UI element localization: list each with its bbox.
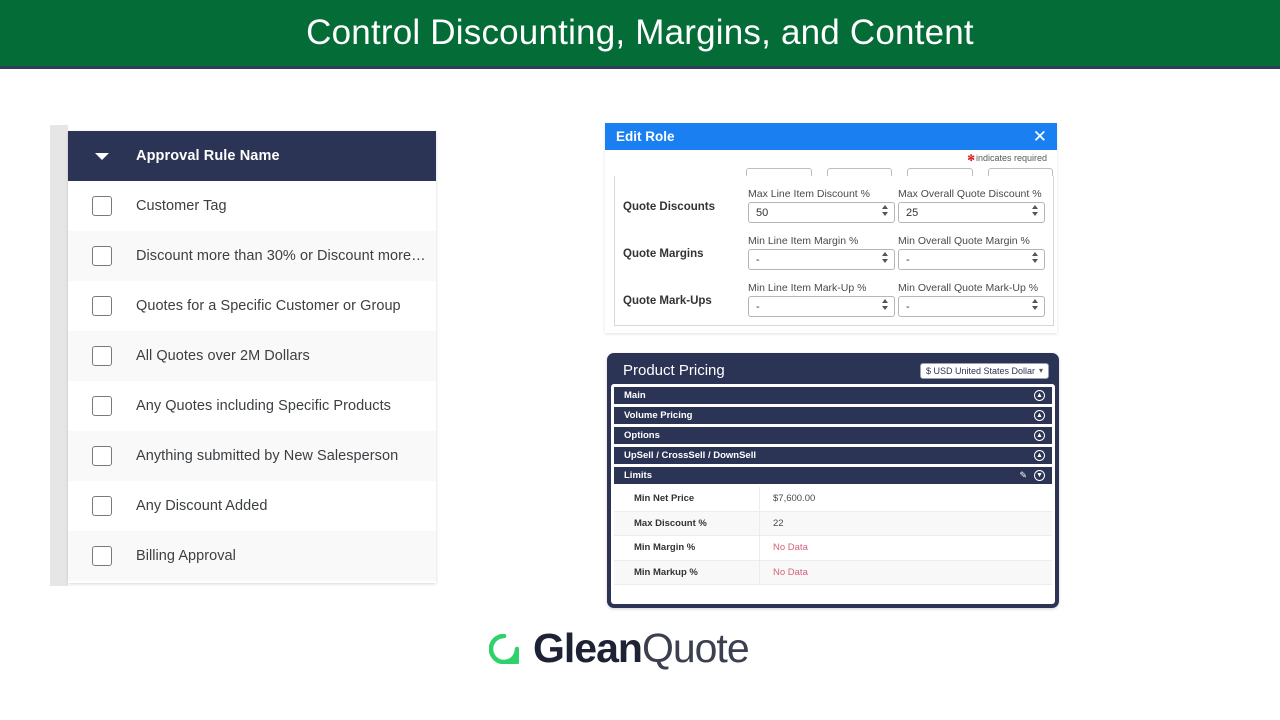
chevron-down-circle-icon[interactable]: ▼	[1034, 470, 1045, 481]
required-note-text: indicates required	[976, 153, 1047, 163]
table-row[interactable]: Billing Approval	[68, 531, 436, 581]
group-label: Quote Discounts	[623, 201, 748, 223]
chevron-up-circle-icon[interactable]: ▲	[1034, 410, 1045, 421]
page-title: Control Discounting, Margins, and Conten…	[306, 13, 974, 53]
chevron-up-circle-icon[interactable]: ▲	[1034, 390, 1045, 401]
limits-row-value: No Data	[760, 567, 808, 578]
table-row[interactable]: Customer Tag	[68, 181, 436, 231]
sort-caret-cell[interactable]	[68, 153, 136, 160]
min-overall-quote-margin-input[interactable]: -	[898, 249, 1045, 270]
chevron-up-circle-icon[interactable]: ▲	[1034, 450, 1045, 461]
column-header-approval-rule-name[interactable]: Approval Rule Name	[136, 148, 280, 164]
checkbox-icon[interactable]	[92, 396, 112, 416]
spinner-up-icon[interactable]	[882, 252, 888, 256]
section-limits[interactable]: Limits ✎ ▼	[614, 467, 1052, 484]
section-label: UpSell / CrossSell / DownSell	[624, 450, 756, 461]
edit-role-titlebar: Edit Role ✕	[605, 123, 1057, 150]
section-label: Limits	[624, 470, 652, 481]
field-value: -	[906, 301, 910, 313]
chevron-up-circle-icon[interactable]: ▲	[1034, 430, 1045, 441]
gleanquote-droplet-icon	[489, 634, 519, 664]
approval-rules-table: Approval Rule Name Customer Tag Discount…	[68, 131, 436, 583]
product-pricing-body: Main ▲ Volume Pricing ▲ Options ▲ UpSell…	[611, 384, 1055, 604]
edit-role-body: ✻indicates required Quote Discounts Max …	[605, 150, 1057, 333]
checkbox-icon[interactable]	[92, 196, 112, 216]
field-label: Min Line Item Margin %	[748, 235, 895, 247]
checkbox-icon[interactable]	[92, 446, 112, 466]
section-icons: ▲	[1034, 450, 1045, 461]
row-checkbox-cell[interactable]	[68, 396, 136, 416]
rule-name-label: All Quotes over 2M Dollars	[136, 348, 310, 364]
spinner-arrows[interactable]	[1032, 205, 1038, 216]
field-label: Max Line Item Discount %	[748, 188, 895, 200]
min-overall-quote-markup-field: Min Overall Quote Mark-Up % -	[898, 282, 1045, 317]
min-line-item-margin-field: Min Line Item Margin % -	[748, 235, 895, 270]
edit-role-dialog: Edit Role ✕ ✻indicates required Quote Di…	[605, 123, 1057, 333]
checkbox-icon[interactable]	[92, 496, 112, 516]
quote-limits-fieldset: Quote Discounts Max Line Item Discount %…	[614, 176, 1054, 326]
product-pricing-header: Product Pricing $ USD United States Doll…	[611, 357, 1055, 384]
section-label: Volume Pricing	[624, 410, 692, 421]
spinner-down-icon[interactable]	[882, 306, 888, 310]
field-value: -	[756, 254, 760, 266]
min-overall-quote-margin-field: Min Overall Quote Margin % -	[898, 235, 1045, 270]
checkbox-icon[interactable]	[92, 246, 112, 266]
approval-rules-header-row: Approval Rule Name	[68, 131, 436, 181]
row-checkbox-cell[interactable]	[68, 496, 136, 516]
section-icons: ▲	[1034, 390, 1045, 401]
spinner-arrows[interactable]	[882, 252, 888, 263]
table-row[interactable]: Any Quotes including Specific Products	[68, 381, 436, 431]
banner-underline	[0, 66, 1280, 69]
rule-name-label: Any Discount Added	[136, 498, 268, 514]
field-label: Min Line Item Mark-Up %	[748, 282, 895, 294]
rule-name-label: Customer Tag	[136, 198, 227, 214]
currency-selector[interactable]: $ USD United States Dollar ▾	[920, 363, 1049, 379]
rule-name-label: Billing Approval	[136, 548, 236, 564]
field-value: 50	[756, 207, 768, 219]
field-label: Max Overall Quote Discount %	[898, 188, 1045, 200]
logo-word-glean: Glean	[533, 625, 642, 671]
logo-wordmark: GleanQuote	[533, 628, 749, 669]
group-label: Quote Margins	[623, 248, 748, 270]
required-note: ✻indicates required	[967, 153, 1047, 164]
checkbox-icon[interactable]	[92, 296, 112, 316]
limits-row: Min Net Price $7,600.00	[614, 487, 1052, 512]
quote-margins-group: Quote Margins Min Line Item Margin % -	[615, 223, 1053, 270]
limits-row: Max Discount % 22	[614, 512, 1052, 537]
limits-row-label: Min Net Price	[614, 487, 760, 511]
section-upsell-crosssell-downsell[interactable]: UpSell / CrossSell / DownSell ▲	[614, 447, 1052, 464]
product-pricing-card: Product Pricing $ USD United States Doll…	[607, 353, 1059, 608]
currency-label: $ USD United States Dollar	[926, 366, 1035, 376]
spinner-up-icon[interactable]	[1032, 205, 1038, 209]
limits-row-label: Max Discount %	[614, 512, 760, 536]
max-overall-quote-discount-field: Max Overall Quote Discount % 25	[898, 188, 1045, 223]
quote-discounts-group: Quote Discounts Max Line Item Discount %…	[615, 176, 1053, 223]
spinner-down-icon[interactable]	[882, 212, 888, 216]
limits-row-value: No Data	[760, 542, 808, 553]
row-checkbox-cell[interactable]	[68, 546, 136, 566]
row-checkbox-cell[interactable]	[68, 246, 136, 266]
logo-word-quote: Quote	[642, 625, 749, 671]
limits-row: Min Markup % No Data	[614, 561, 1052, 586]
slide-canvas: Control Discounting, Margins, and Conten…	[0, 0, 1280, 720]
title-banner: Control Discounting, Margins, and Conten…	[0, 0, 1280, 66]
dialog-title: Edit Role	[616, 129, 675, 144]
max-line-item-discount-input[interactable]: 50	[748, 202, 895, 223]
min-overall-quote-markup-input[interactable]: -	[898, 296, 1045, 317]
checkbox-icon[interactable]	[92, 346, 112, 366]
product-pricing-title: Product Pricing	[623, 362, 725, 379]
limits-row-value: $7,600.00	[760, 493, 815, 504]
field-value: 25	[906, 207, 918, 219]
field-label: Min Overall Quote Mark-Up %	[898, 282, 1045, 294]
spinner-down-icon[interactable]	[1032, 212, 1038, 216]
max-line-item-discount-field: Max Line Item Discount % 50	[748, 188, 895, 223]
row-checkbox-cell[interactable]	[68, 346, 136, 366]
spinner-arrows[interactable]	[1032, 299, 1038, 310]
min-line-item-markup-input[interactable]: -	[748, 296, 895, 317]
field-value: -	[756, 301, 760, 313]
table-row[interactable]: Anything submitted by New Salesperson	[68, 431, 436, 481]
rule-name-label: Anything submitted by New Salesperson	[136, 448, 398, 464]
table-row[interactable]: Quotes for a Specific Customer or Group	[68, 281, 436, 331]
min-line-item-margin-input[interactable]: -	[748, 249, 895, 270]
section-volume-pricing[interactable]: Volume Pricing ▲	[614, 407, 1052, 424]
gleanquote-logo: GleanQuote	[489, 628, 749, 669]
approval-rules-panel: Approval Rule Name Customer Tag Discount…	[50, 125, 436, 586]
spinner-up-icon[interactable]	[882, 205, 888, 209]
section-label: Options	[624, 430, 660, 441]
field-label: Min Overall Quote Margin %	[898, 235, 1045, 247]
rule-name-label: Discount more than 30% or Discount more…	[136, 248, 426, 264]
chevron-down-icon: ▾	[1039, 366, 1043, 375]
close-icon[interactable]: ✕	[1029, 128, 1051, 145]
limits-row-label: Min Margin %	[614, 536, 760, 560]
caret-down-icon	[95, 153, 109, 160]
row-checkbox-cell[interactable]	[68, 296, 136, 316]
table-row[interactable]: All Quotes over 2M Dollars	[68, 331, 436, 381]
rule-name-label: Quotes for a Specific Customer or Group	[136, 298, 401, 314]
spinner-down-icon[interactable]	[1032, 259, 1038, 263]
section-label: Main	[624, 390, 646, 401]
max-overall-quote-discount-input[interactable]: 25	[898, 202, 1045, 223]
section-icons: ▲	[1034, 410, 1045, 421]
table-row[interactable]: Any Discount Added	[68, 481, 436, 531]
row-checkbox-cell[interactable]	[68, 446, 136, 466]
spinner-up-icon[interactable]	[1032, 252, 1038, 256]
spinner-arrows[interactable]	[882, 205, 888, 216]
section-icons: ▲	[1034, 430, 1045, 441]
row-checkbox-cell[interactable]	[68, 196, 136, 216]
group-label: Quote Mark-Ups	[623, 295, 748, 317]
pencil-icon[interactable]: ✎	[1019, 470, 1027, 481]
spinner-down-icon[interactable]	[882, 259, 888, 263]
section-options[interactable]: Options ▲	[614, 427, 1052, 444]
limits-row-label: Min Markup %	[614, 561, 760, 585]
section-main[interactable]: Main ▲	[614, 387, 1052, 404]
field-value: -	[906, 254, 910, 266]
spinner-arrows[interactable]	[882, 299, 888, 310]
spinner-up-icon[interactable]	[882, 299, 888, 303]
quote-markups-group: Quote Mark-Ups Min Line Item Mark-Up % -	[615, 270, 1053, 317]
limits-row-value: 22	[760, 518, 784, 529]
limits-row: Min Margin % No Data	[614, 536, 1052, 561]
spinner-arrows[interactable]	[1032, 252, 1038, 263]
section-icons: ✎ ▼	[1019, 470, 1045, 481]
rule-name-label: Any Quotes including Specific Products	[136, 398, 391, 414]
min-line-item-markup-field: Min Line Item Mark-Up % -	[748, 282, 895, 317]
panel-gutter	[50, 125, 68, 586]
spinner-down-icon[interactable]	[1032, 306, 1038, 310]
required-asterisk-icon: ✻	[967, 153, 975, 163]
checkbox-icon[interactable]	[92, 546, 112, 566]
spinner-up-icon[interactable]	[1032, 299, 1038, 303]
table-row[interactable]: Discount more than 30% or Discount more…	[68, 231, 436, 281]
